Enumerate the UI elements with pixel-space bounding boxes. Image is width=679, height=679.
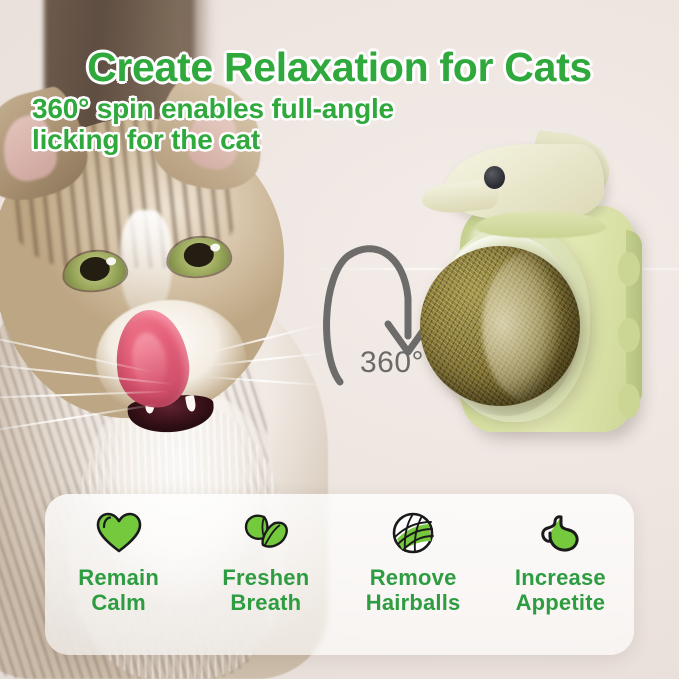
feature-item-increase-appetite: Increase Appetite <box>487 508 634 615</box>
feature-label: Freshen Breath <box>222 566 309 615</box>
feature-label: Increase Appetite <box>515 566 606 615</box>
bird-eye-icon <box>484 166 505 189</box>
bird-neck <box>476 212 606 238</box>
page-title: Create Relaxation for Cats <box>0 44 679 91</box>
feature-label: Remove Hairballs <box>366 566 461 615</box>
feature-item-remain-calm: Remain Calm <box>45 508 192 615</box>
feature-item-freshen-breath: Freshen Breath <box>192 508 339 615</box>
mint-leaf-icon <box>239 508 293 558</box>
feature-label: Remain Calm <box>78 566 159 615</box>
catnip-ball-highlight <box>482 250 580 404</box>
feature-item-remove-hairballs: Remove Hairballs <box>340 508 487 615</box>
rotation-label: 360° <box>360 346 424 380</box>
catnip-ball <box>420 246 580 406</box>
heart-icon <box>92 508 146 558</box>
page-subtitle: 360° spin enables full-angle licking for… <box>32 93 492 156</box>
hairball-icon <box>386 508 440 558</box>
stomach-icon <box>533 508 587 558</box>
product-image <box>418 138 644 442</box>
feature-benefits-card: Remain Calm Freshen Breath <box>45 494 634 655</box>
product-marketing-image: 360° Create Relaxation for Cats 360° spi… <box>0 0 679 679</box>
cat-whiskers <box>0 332 324 492</box>
